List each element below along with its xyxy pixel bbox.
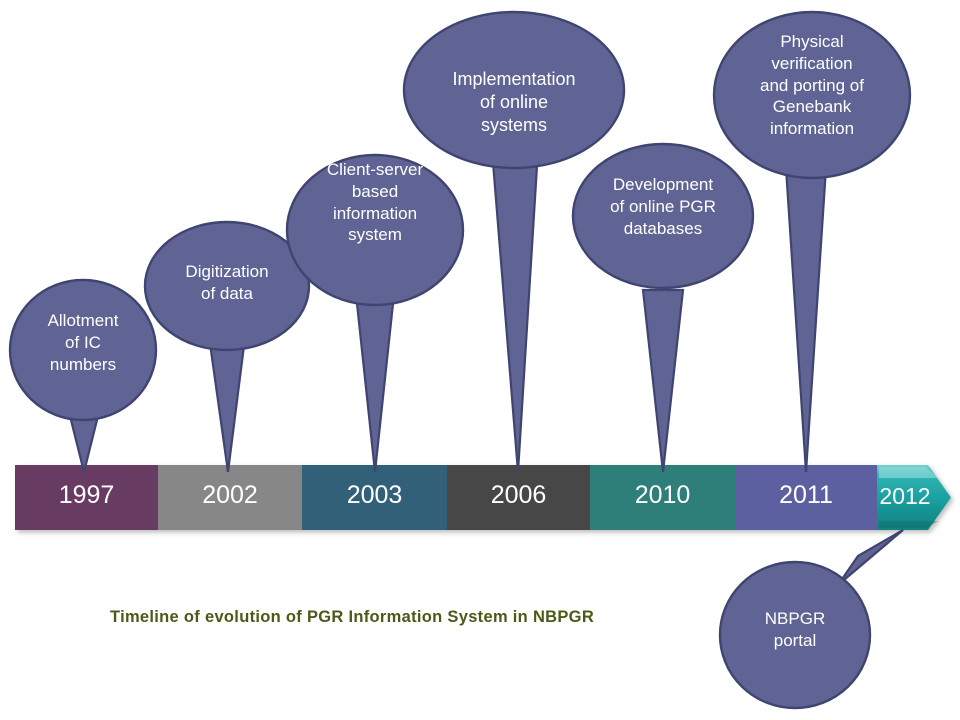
timeline-segment-2006[interactable] <box>447 465 590 530</box>
timeline-segment-2002[interactable] <box>158 465 302 530</box>
callout-bubble-2012 <box>720 562 870 708</box>
callout-bubble-2006 <box>404 12 624 168</box>
callout-2003[interactable] <box>287 155 463 472</box>
timeline-segment-2003[interactable] <box>302 465 447 530</box>
callout-2010[interactable] <box>573 144 753 472</box>
callout-tail-2012 <box>838 530 903 585</box>
callout-1997[interactable] <box>10 280 156 472</box>
callout-tail-2006 <box>492 150 538 472</box>
timeline-segment-1997[interactable] <box>15 465 158 530</box>
diagram-caption: Timeline of evolution of PGR Information… <box>110 608 594 627</box>
callout-2012[interactable] <box>720 530 903 708</box>
callout-tail-2011 <box>786 168 826 472</box>
callout-bubble-1997 <box>10 280 156 420</box>
callout-bubble-2011 <box>714 12 910 178</box>
timeline-diagram: 1997 2002 2003 2006 2010 2011 2012 Allot… <box>0 0 960 720</box>
callout-2002[interactable] <box>145 222 309 472</box>
callout-tail-2003 <box>355 285 395 472</box>
callout-tail-2010 <box>643 290 683 472</box>
timeline-segment-2011[interactable] <box>735 465 877 530</box>
callout-bubble-2003 <box>287 155 463 305</box>
timeline-segment-2010[interactable] <box>590 465 735 530</box>
callout-bubble-2010 <box>573 144 753 288</box>
callout-bubble-2002 <box>145 222 309 350</box>
timeline-bar <box>15 465 951 530</box>
